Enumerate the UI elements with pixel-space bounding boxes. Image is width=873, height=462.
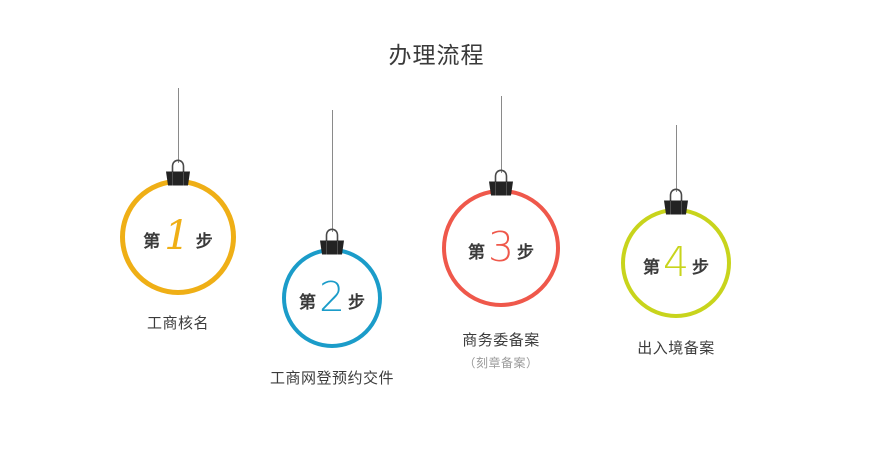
page-title: 办理流程 [0,40,873,72]
step-caption: 工商核名 [147,312,209,334]
step-prefix-label: 第 [299,288,316,313]
flow-diagram-canvas: 办理流程 第1步工商核名第2步工商网登预约交件第3步商务委备案（刻章备案）第4步… [0,0,873,462]
step-prefix-label: 第 [468,238,485,263]
hanging-string [178,88,179,163]
step-ring: 第4步 [621,208,731,318]
step-caption-main: 工商核名 [147,312,209,334]
step-prefix-label: 第 [643,253,660,278]
step-number: 2 [319,277,345,318]
step-suffix-label: 步 [517,238,534,263]
step-caption-sub: （刻章备案） [462,353,540,373]
step-suffix-label: 步 [692,253,709,278]
step-prefix-label: 第 [143,227,160,252]
step-number: 1 [164,216,189,256]
step-ring: 第1步 [120,179,236,295]
step-number-group: 第2步 [286,252,378,344]
step-caption: 工商网登预约交件 [270,367,394,389]
step-caption: 商务委备案（刻章备案） [462,329,540,373]
hanging-string [501,96,502,173]
binder-clip-icon [161,157,195,187]
step-number: 4 [663,242,689,283]
step-number: 3 [488,227,514,268]
step-ring: 第3步 [442,189,560,307]
step-ring: 第2步 [282,248,382,348]
hanging-string [332,110,333,232]
step-caption: 出入境备案 [637,337,715,359]
binder-clip-icon [659,186,693,216]
step-number-group: 第1步 [125,184,231,290]
step-suffix-label: 步 [196,227,213,252]
step-number-group: 第4步 [625,212,727,314]
step-number-group: 第3步 [446,193,556,303]
step-caption-main: 出入境备案 [637,337,715,359]
binder-clip-icon [315,226,349,256]
binder-clip-icon [484,167,518,197]
hanging-string [676,125,677,192]
step-suffix-label: 步 [348,288,365,313]
step-caption-main: 商务委备案 [462,329,540,351]
step-caption-main: 工商网登预约交件 [270,367,394,389]
